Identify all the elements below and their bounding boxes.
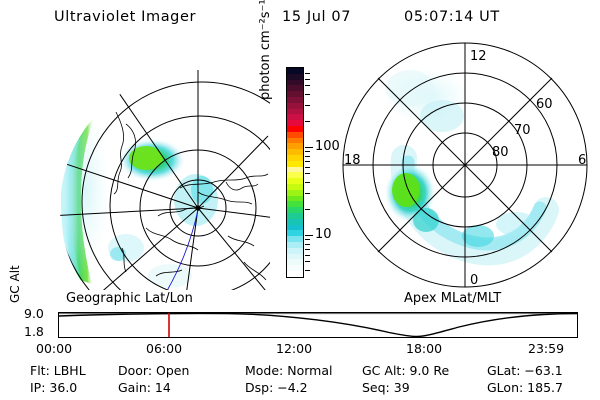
colorbar-minor-tick-11 bbox=[305, 161, 310, 162]
colorbar-minor-tick-9 bbox=[305, 173, 310, 174]
gcalt-tick-top: 9.0 bbox=[24, 306, 44, 321]
mlt-dial-plot[interactable]: 12 6 0 18 60 70 80 bbox=[330, 38, 600, 293]
colorbar-minor-tick-4 bbox=[305, 244, 310, 245]
subsatellite-point bbox=[195, 205, 200, 210]
mlt-label-left: 18 bbox=[344, 153, 361, 168]
status-glon: GLon: 185.7 bbox=[487, 380, 563, 395]
colorbar-minor-tick-10 bbox=[305, 167, 310, 168]
left-panel-caption: Geographic Lat/Lon bbox=[66, 291, 193, 306]
gcalt-trace bbox=[59, 313, 577, 336]
status-mode: Mode: Normal bbox=[245, 363, 332, 378]
colorbar-minor-tick-3 bbox=[305, 249, 310, 250]
colorbar-minor-tick-15 bbox=[305, 105, 310, 106]
xtick-0000: 00:00 bbox=[36, 341, 72, 356]
colorbar-axis-title: photon cm⁻²s⁻¹ bbox=[258, 84, 273, 100]
header: Ultraviolet Imager 15 Jul 07 05:07:14 UT bbox=[0, 6, 600, 30]
mlt-dial-canvas: 12 6 0 18 60 70 80 bbox=[330, 38, 600, 293]
colorbar-minor-tick-2 bbox=[305, 255, 310, 256]
colorbar-band-35 bbox=[287, 271, 303, 277]
xtick-1200: 12:00 bbox=[276, 341, 312, 356]
status-glat: GLat: −63.1 bbox=[487, 363, 563, 378]
geographic-plot-canvas bbox=[30, 40, 270, 290]
colorbar-minor-tick-12 bbox=[305, 156, 310, 157]
xtick-2359: 23:59 bbox=[528, 341, 564, 356]
colorbar-minor-tick-7 bbox=[305, 193, 310, 194]
gcalt-timeline[interactable] bbox=[58, 312, 578, 338]
colorbar-minor-tick-13 bbox=[305, 151, 310, 152]
colorbar-minor-tick-1 bbox=[305, 261, 310, 262]
right-panel-caption: Apex MLat/MLT bbox=[404, 291, 501, 306]
colorbar-tick-100 bbox=[305, 147, 313, 148]
lat-ring-label-60: 60 bbox=[536, 97, 553, 112]
status-seq: Seq: 39 bbox=[362, 380, 410, 395]
status-bar: Flt: LBHL IP: 36.0 Door: Open Gain: 14 M… bbox=[0, 363, 600, 399]
gcalt-timeline-canvas bbox=[59, 313, 577, 337]
status-dsp: Dsp: −4.2 bbox=[245, 380, 308, 395]
status-door: Door: Open bbox=[118, 363, 189, 378]
colorbar-minor-tick-14 bbox=[305, 121, 310, 122]
gcalt-tick-bottom: 1.8 bbox=[24, 324, 44, 339]
mlt-label-bottom: 0 bbox=[470, 273, 478, 288]
auroral-emission-layer bbox=[60, 104, 218, 288]
colorbar-tick-10 bbox=[305, 235, 313, 236]
colorbar[interactable] bbox=[286, 67, 304, 278]
colorbar-gradient bbox=[287, 68, 303, 277]
status-filter: Flt: LBHL bbox=[30, 363, 86, 378]
lat-ring-label-70: 70 bbox=[514, 123, 531, 138]
colorbar-minor-tick-19 bbox=[305, 73, 310, 74]
uvi-display: Ultraviolet Imager 15 Jul 07 05:07:14 UT bbox=[0, 0, 600, 400]
status-gain: Gain: 14 bbox=[118, 380, 171, 395]
page-title: Ultraviolet Imager bbox=[54, 9, 196, 25]
geographic-plot[interactable] bbox=[30, 40, 270, 290]
colorbar-minor-tick-16 bbox=[305, 94, 310, 95]
status-ip: IP: 36.0 bbox=[30, 380, 77, 395]
mlt-spokes bbox=[343, 43, 587, 287]
colorbar-minor-tick-8 bbox=[305, 182, 310, 183]
colorbar-minor-tick-0 bbox=[305, 270, 310, 271]
observation-time: 05:07:14 UT bbox=[404, 9, 500, 25]
status-gc-alt: GC Alt: 9.0 Re bbox=[362, 363, 449, 378]
gcalt-axis-label: GC Alt bbox=[8, 289, 22, 303]
mlt-label-right: 6 bbox=[578, 153, 586, 168]
lat-ring-label-80: 80 bbox=[492, 145, 509, 160]
colorbar-minor-tick-6 bbox=[305, 209, 310, 210]
xtick-0600: 06:00 bbox=[146, 341, 182, 356]
colorbar-minor-tick-18 bbox=[305, 79, 310, 80]
colorbar-minor-tick-5 bbox=[305, 239, 310, 240]
xtick-1800: 18:00 bbox=[406, 341, 442, 356]
observation-date: 15 Jul 07 bbox=[282, 9, 351, 25]
mlt-label-top: 12 bbox=[470, 49, 487, 64]
colorbar-minor-tick-17 bbox=[305, 85, 310, 86]
